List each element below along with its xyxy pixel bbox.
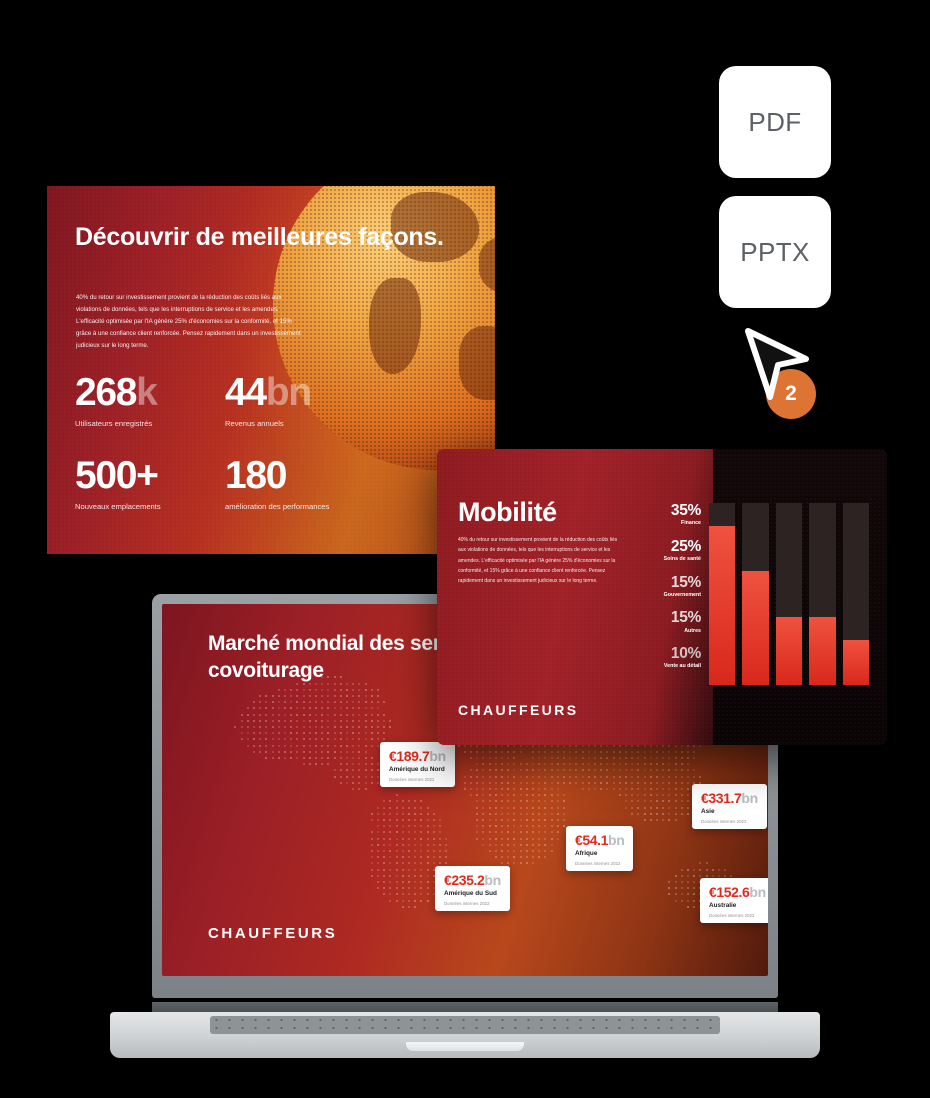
slide3-logo: CHAUFFEURS (208, 925, 337, 942)
chart-category: Vente au détail (623, 663, 701, 669)
stat-value: 180 (225, 456, 375, 495)
callout-source: Données internes 2022 (575, 861, 624, 866)
cursor-arrow-icon (740, 325, 832, 433)
stat-block: 500+ Nouveaux emplacements (75, 456, 225, 511)
slide1-stats: 268k Utilisateurs enregistrés 44bn Reven… (75, 373, 405, 511)
slide2-logo: CHAUFFEURS (458, 702, 578, 718)
map-callout[interactable]: €331.7bn Asie Données internes 2022 (692, 784, 767, 829)
export-pptx-button[interactable]: PPTX (719, 196, 831, 308)
bar-soins-de-santé (742, 571, 768, 685)
slide-mobilite[interactable]: Mobilité 40% du retour sur investissemen… (437, 449, 887, 745)
callout-region: Amérique du Sud (444, 890, 501, 897)
callout-value: €189.7bn (389, 748, 446, 764)
chart-value-item: 25% Soins de santé (623, 539, 701, 562)
bar-track (709, 503, 735, 685)
export-pptx-label: PPTX (740, 237, 810, 268)
bar-track (843, 503, 869, 685)
export-pdf-button[interactable]: PDF (719, 66, 831, 178)
slide2-title: Mobilité (458, 497, 557, 528)
callout-region: Afrique (575, 850, 624, 857)
callout-value: €331.7bn (701, 790, 758, 806)
callout-source: Données internes 2022 (709, 913, 766, 918)
chart-value: 15% (623, 610, 701, 626)
callout-region: Asie (701, 808, 758, 815)
slide1-body: 40% du retour sur investissement provien… (76, 292, 308, 351)
laptop-base (110, 1012, 820, 1058)
chart-value-item: 35% Finance (623, 503, 701, 526)
chart-value-item: 15% Autres (623, 610, 701, 633)
stat-label: Nouveaux emplacements (75, 502, 225, 511)
map-callout[interactable]: €189.7bn Amérique du Nord Données intern… (380, 742, 455, 787)
bar-track (809, 503, 835, 685)
cursor-pointer: 2 (740, 325, 832, 433)
callout-source: Données internes 2022 (701, 819, 758, 824)
stat-block: 268k Utilisateurs enregistrés (75, 373, 225, 428)
chart-value: 35% (623, 503, 701, 519)
bar-chart (709, 503, 869, 685)
map-callout[interactable]: €152.6bn Australie Données internes 2022 (700, 878, 768, 923)
canvas: Découvrir de meilleures façons. 40% du r… (0, 0, 930, 1098)
bar-gouvernement (776, 617, 802, 685)
bar-track (742, 503, 768, 685)
callout-region: Amérique du Nord (389, 766, 446, 773)
chart-category: Soins de santé (623, 556, 701, 562)
callout-source: Données internes 2022 (389, 777, 446, 782)
chart-value: 10% (623, 646, 701, 662)
callout-source: Données internes 2022 (444, 901, 501, 906)
callout-value: €235.2bn (444, 872, 501, 888)
chart-category: Finance (623, 520, 701, 526)
stat-label: amélioration des performances (225, 502, 375, 511)
chart-value-item: 15% Gouvernement (623, 575, 701, 598)
chart-category: Autres (623, 628, 701, 634)
bar-vente-au-détail (843, 640, 869, 686)
laptop-keyboard (210, 1016, 720, 1034)
callout-value: €152.6bn (709, 884, 766, 900)
chart-value: 15% (623, 575, 701, 591)
stat-label: Utilisateurs enregistrés (75, 419, 225, 428)
slide2-body: 40% du retour sur investissement provien… (458, 535, 618, 586)
stat-block: 180 amélioration des performances (225, 456, 375, 511)
chart-category: Gouvernement (623, 592, 701, 598)
slide-decouvrir[interactable]: Découvrir de meilleures façons. 40% du r… (47, 186, 495, 554)
laptop-hinge (152, 1002, 778, 1012)
callout-region: Australie (709, 902, 766, 909)
callout-value: €54.1bn (575, 832, 624, 848)
slide1-title: Découvrir de meilleures façons. (75, 222, 444, 253)
chart-value: 25% (623, 539, 701, 555)
bar-autres (809, 617, 835, 685)
bar-finance (709, 526, 735, 685)
stat-value: 44bn (225, 373, 375, 412)
stat-block: 44bn Revenus annuels (225, 373, 375, 428)
bar-track (776, 503, 802, 685)
map-callout[interactable]: €235.2bn Amérique du Sud Données interne… (435, 866, 510, 911)
stat-value: 500+ (75, 456, 225, 495)
stat-label: Revenus annuels (225, 419, 375, 428)
map-callout[interactable]: €54.1bn Afrique Données internes 2022 (566, 826, 633, 871)
chart-value-item: 10% Vente au détail (623, 646, 701, 669)
chart-value-list: 35% Finance 25% Soins de santé 15% Gouve… (623, 503, 701, 682)
stat-value: 268k (75, 373, 225, 412)
export-pdf-label: PDF (748, 107, 801, 138)
